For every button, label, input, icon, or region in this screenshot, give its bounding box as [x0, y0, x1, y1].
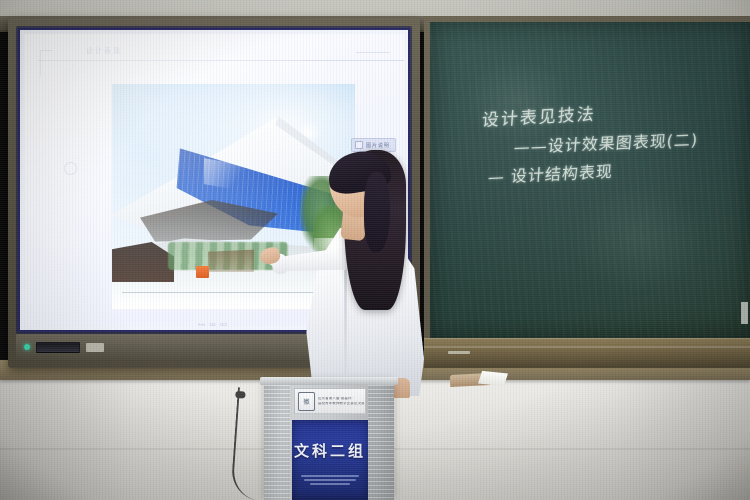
chalk-stick[interactable]: [448, 351, 470, 354]
lectern-header-plate: 徽 山东省第八届"超星杯" 高校青年教师教学比赛总决赛: [294, 388, 366, 414]
slide-circle-marker: [64, 162, 77, 175]
control-tab-button[interactable]: [86, 343, 104, 352]
banner-footnote-line-1: [301, 475, 359, 477]
slide-corner-mark: [40, 50, 52, 76]
group-name-label: 文科二组: [294, 440, 366, 461]
lectern-left-panel: [264, 385, 290, 500]
instructor-hair-side: [364, 172, 390, 252]
competition-seal-icon: 徽: [298, 392, 315, 411]
banner-footnote-line-3: [310, 483, 350, 485]
chalk-line-1: 设计表见技法: [481, 100, 596, 131]
chalk-smudge-lower: [571, 186, 705, 293]
lectern-header-line-2: 高校青年教师教学比赛总决赛: [318, 402, 365, 405]
banner-footnote-line-2: [304, 479, 356, 481]
slide-divider: [38, 60, 404, 61]
control-panel-slot[interactable]: [36, 342, 80, 353]
lectern-group-banner: 文科二组: [292, 420, 368, 500]
instructor-figure: [268, 150, 438, 395]
slide-rule-right: [356, 52, 390, 53]
microphone-connector: [235, 391, 245, 399]
orange-accent-object: [196, 266, 209, 278]
lectern[interactable]: 徽 山东省第八届"超星杯" 高校青年教师教学比赛总决赛 文科二组: [264, 382, 394, 500]
chalkboard-side-card: [741, 302, 748, 324]
chip-thumbnail-icon: [355, 141, 363, 149]
power-led-icon: [24, 344, 30, 350]
slide-title: 设计表现: [86, 46, 122, 56]
lectern-right-panel: [368, 385, 394, 500]
chalk-tray-highlight: [424, 346, 750, 348]
chalk-line-3: — 设计结构表现: [487, 158, 614, 188]
chip-label: 图片说明: [366, 142, 390, 149]
lectern-paper-sheet: [478, 371, 508, 386]
chalkboard-unit: 设计表见技法 ——设计效果图表现(二) — 设计结构表现: [424, 16, 750, 368]
chalkboard-surface[interactable]: 设计表见技法 ——设计效果图表现(二) — 设计结构表现: [430, 22, 750, 338]
banner-footnote-block: [299, 475, 361, 485]
lectern-header-text: 山东省第八届"超星杯" 高校青年教师教学比赛总决赛: [318, 397, 365, 406]
chalk-tray: [424, 338, 750, 368]
classroom-scene: 设计表现 建筑效果图: [0, 0, 750, 500]
lectern-top-lip: [260, 377, 398, 385]
lectern-header-line-1: 山东省第八届"超星杯": [318, 397, 365, 400]
instructor-blouse-fold: [344, 254, 347, 374]
